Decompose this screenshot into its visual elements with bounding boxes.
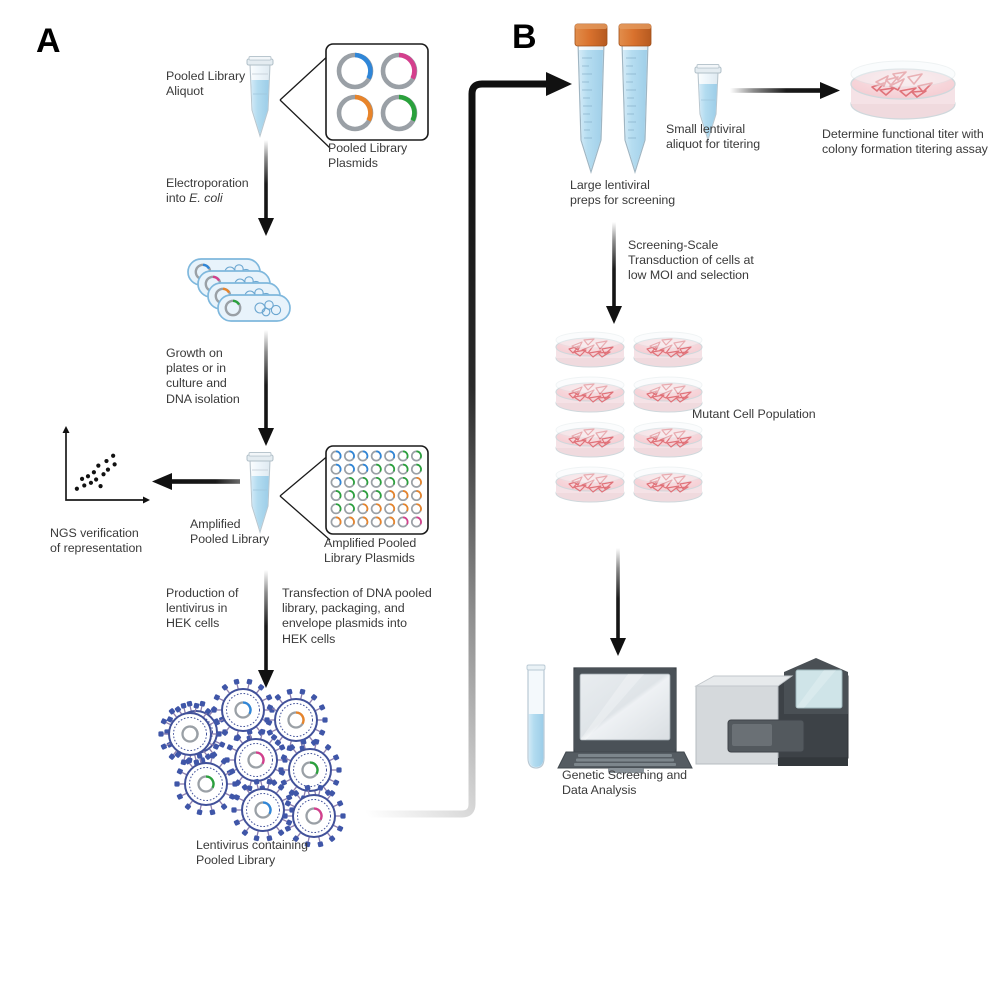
panel-letter-a: A — [36, 22, 61, 61]
scatter-point — [86, 474, 90, 478]
petri-dish — [634, 422, 702, 457]
large-lentiviral-prep-tube — [570, 20, 612, 180]
scatter-point — [96, 464, 100, 468]
sample-test-tube — [522, 662, 550, 774]
large-lentiviral-prep-tube — [614, 20, 656, 180]
arrow-to-titering-assay — [730, 80, 842, 102]
laptop-data-analysis — [556, 664, 694, 776]
scatter-point — [89, 481, 93, 485]
ecoli-cells-group — [186, 255, 302, 331]
panel-letter-b: B — [512, 18, 537, 57]
petri-dish — [634, 332, 702, 367]
label-lentivirus-pooled-library: Lentivirus containing Pooled Library — [196, 838, 366, 868]
mutant-cell-population-dishes — [552, 330, 702, 520]
sequencer-machine — [692, 658, 850, 778]
petri-dish — [556, 422, 624, 457]
label-growth-dna-isolation: Growth on plates or in culture and DNA i… — [166, 346, 276, 407]
label-ngs-verification: NGS verification of representation — [50, 526, 200, 556]
label-production-lentivirus: Production of lentivirus in HEK cells — [166, 586, 276, 632]
virus-particle — [231, 779, 294, 842]
figure-canvas: A B — [0, 0, 1000, 1000]
arrow-screening-scale-transduction — [604, 222, 624, 326]
scatter-point — [113, 462, 117, 466]
ecoli-cell — [218, 295, 290, 321]
label-electroporation: Electroporation into E. coli — [166, 176, 306, 206]
lentivirus-particles-group — [168, 688, 348, 838]
label-determine-titer: Determine functional titer with colony f… — [822, 127, 1000, 157]
scatter-point — [94, 477, 98, 481]
scatter-point — [101, 472, 105, 476]
label-genetic-screening: Genetic Screening and Data Analysis — [562, 768, 712, 798]
scatter-point — [104, 459, 108, 463]
petri-dish — [634, 467, 702, 502]
label-small-lentiviral-aliquot: Small lentiviral aliquot for titering — [666, 122, 806, 152]
titering-petri-dish — [846, 62, 960, 124]
label-large-lentiviral-preps: Large lentiviral preps for screening — [570, 178, 710, 208]
ngs-scatter-plot — [52, 424, 156, 520]
arrow-to-data-analysis — [608, 548, 628, 658]
label-mutant-cell-population: Mutant Cell Population — [692, 407, 872, 422]
petri-dish — [556, 332, 624, 367]
petri-dish — [556, 377, 624, 412]
label-screening-scale: Screening-Scale Transduction of cells at… — [628, 238, 788, 284]
scatter-point — [92, 470, 96, 474]
pooled-library-aliquot-tube — [236, 54, 284, 140]
scatter-point — [80, 477, 84, 481]
scatter-point — [98, 484, 102, 488]
arrow-to-ngs — [150, 471, 240, 493]
scatter-point — [82, 483, 86, 487]
scatter-point — [111, 454, 115, 458]
scatter-point — [75, 487, 79, 491]
petri-dish — [556, 467, 624, 502]
scatter-point — [106, 468, 110, 472]
